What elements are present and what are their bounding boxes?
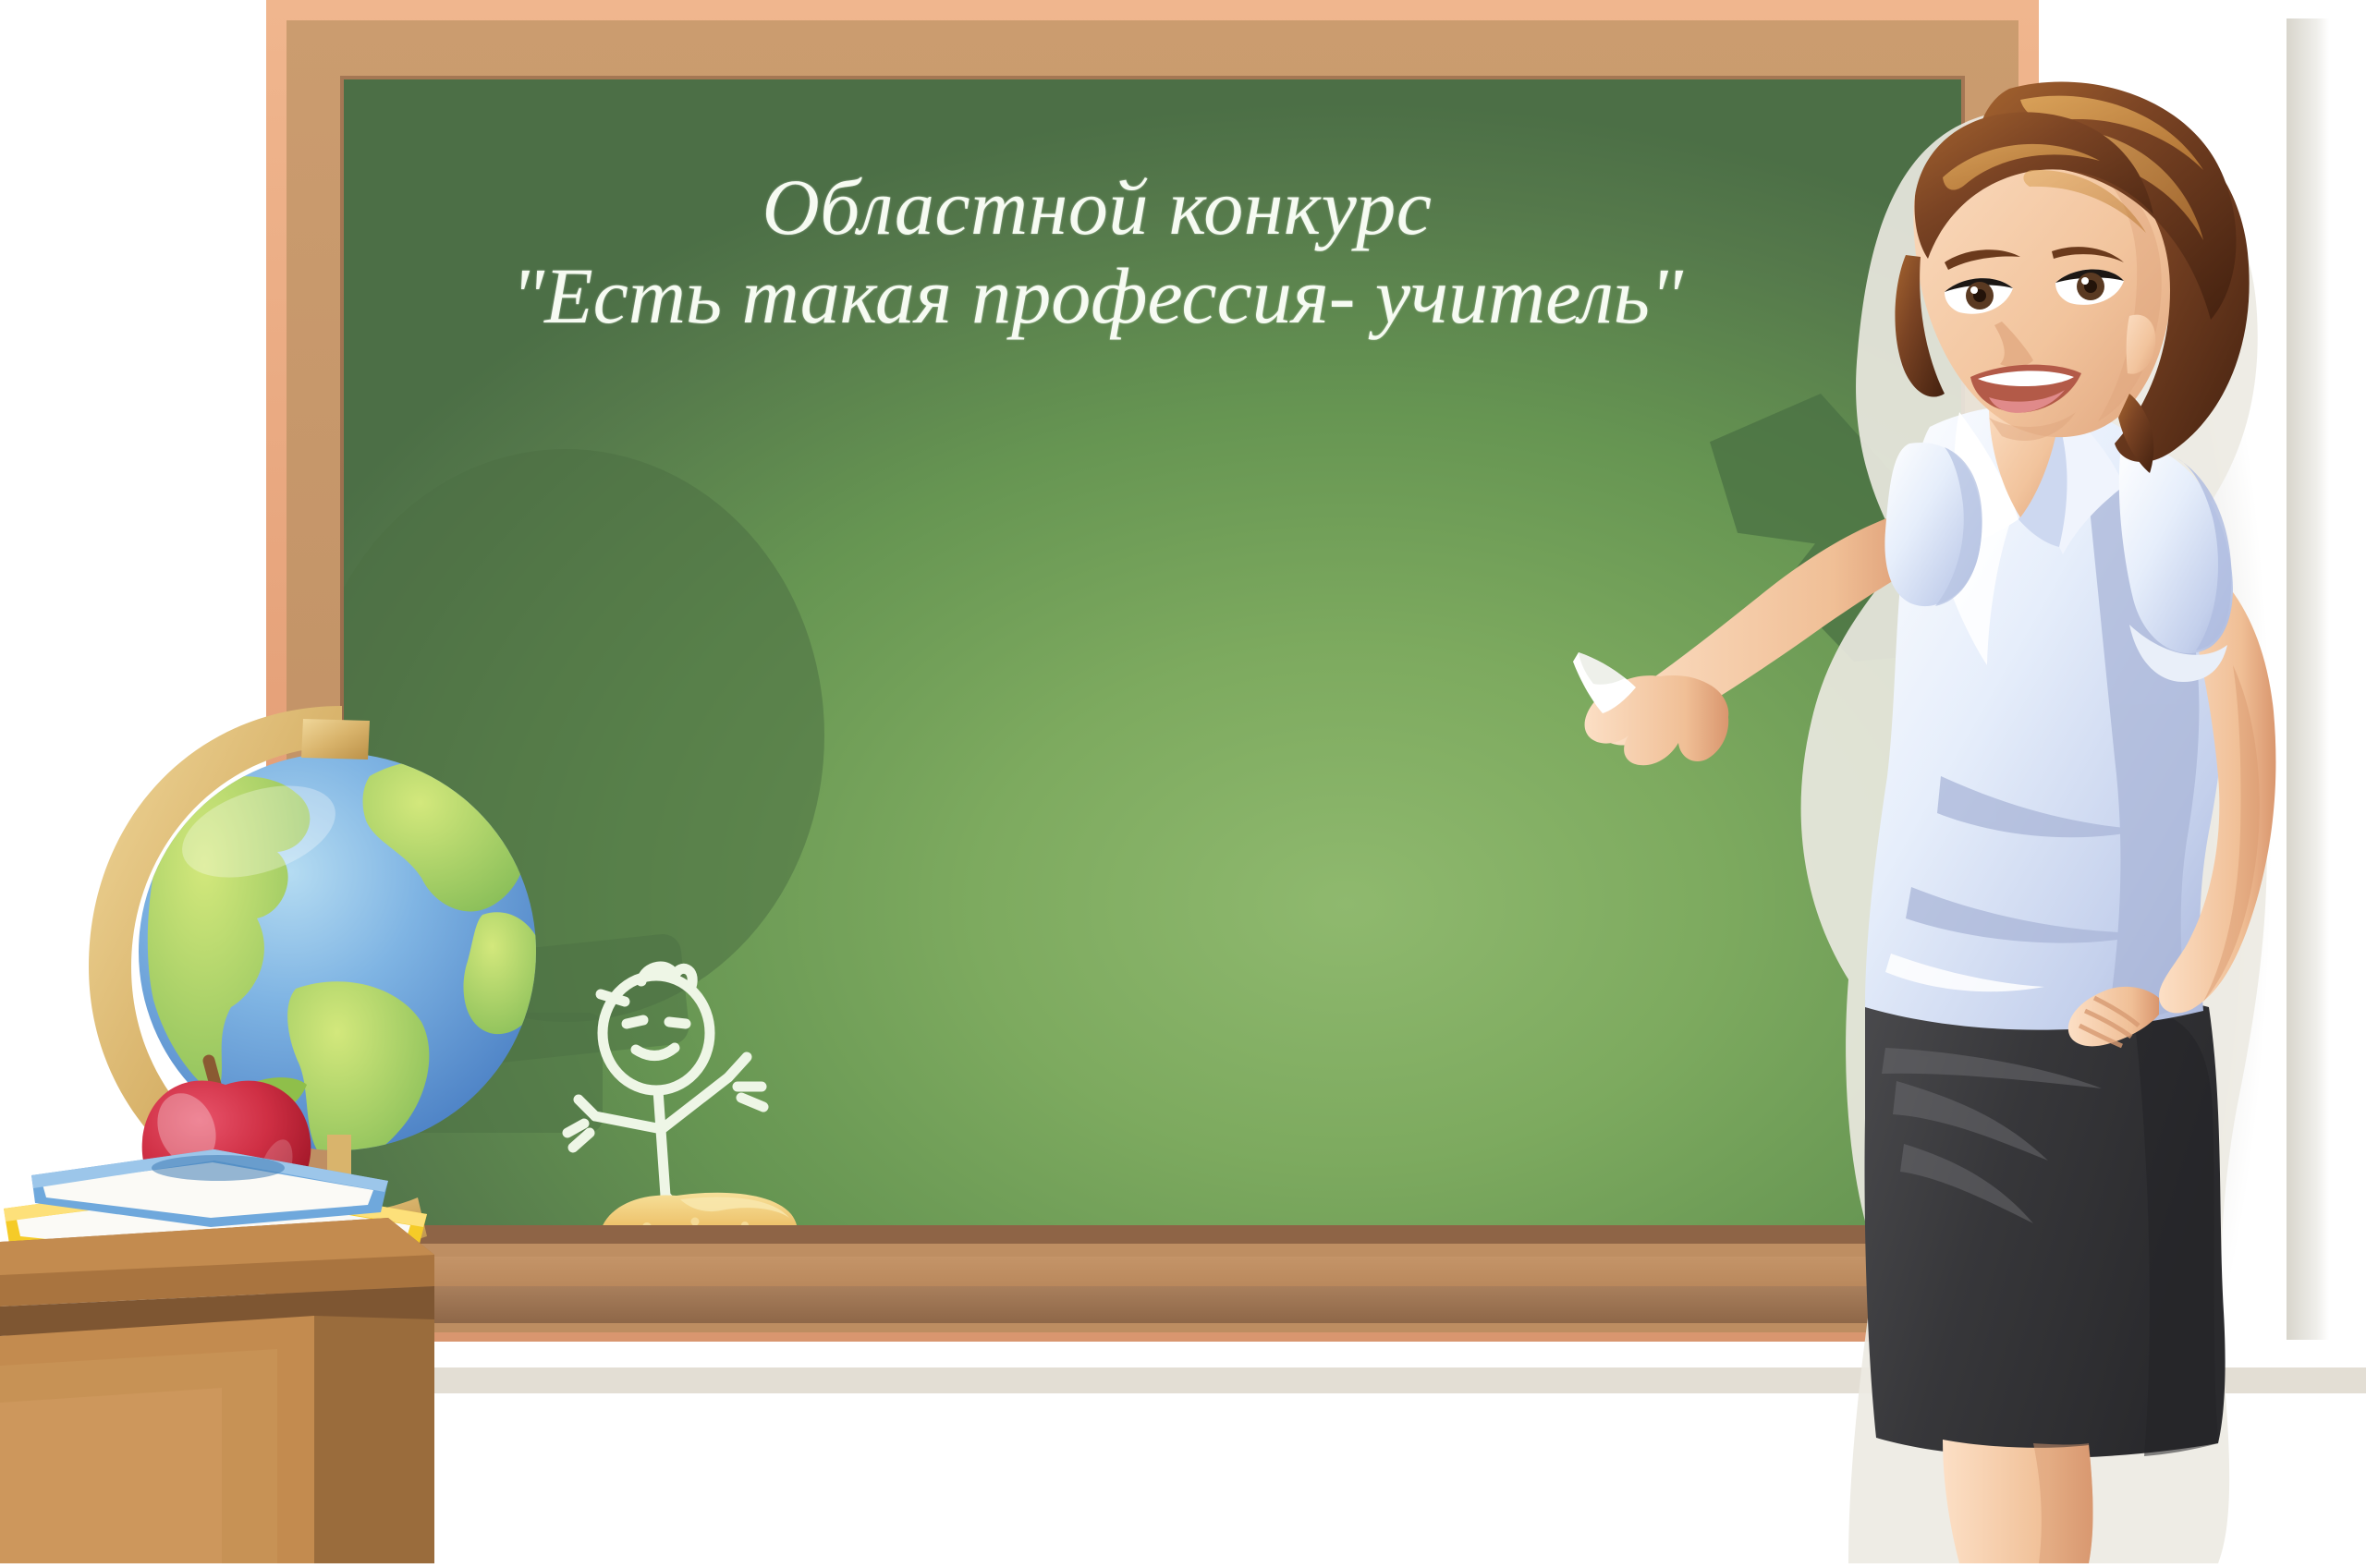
teacher-illustration [1571, 74, 2366, 1563]
sponge-eraser [591, 1186, 804, 1225]
stick-figure-drawing [556, 948, 834, 1225]
desk [0, 1218, 462, 1563]
poster-canvas: Областной конкурс "Есть такая профессия-… [0, 0, 2366, 1563]
